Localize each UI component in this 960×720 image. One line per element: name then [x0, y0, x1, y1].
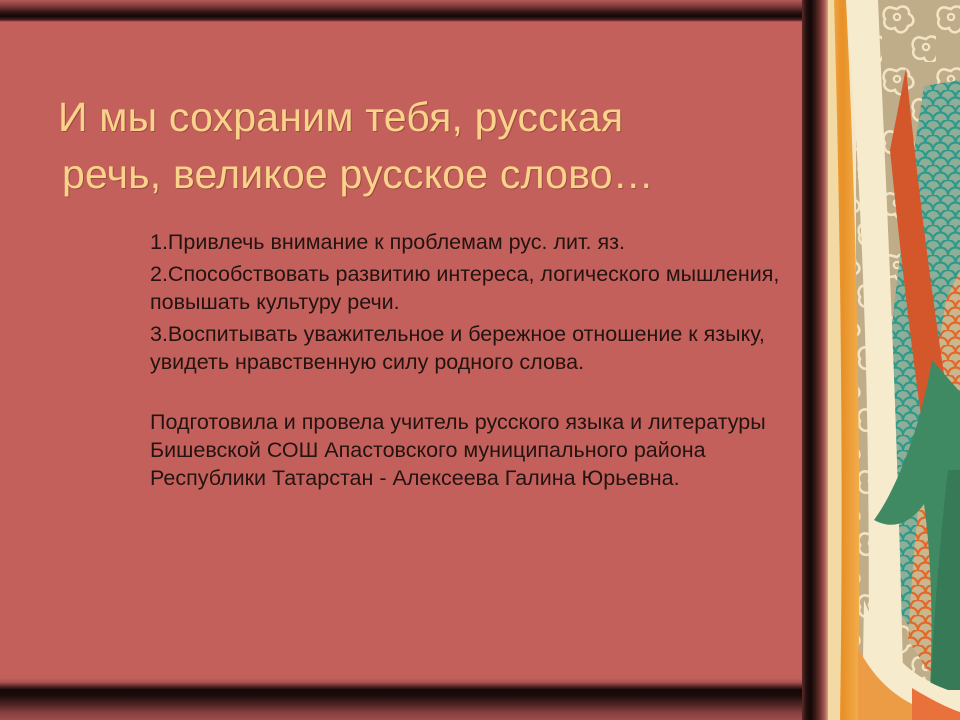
objective-item-2: 2.Способствовать развитию интереса, логи…	[150, 260, 798, 316]
author-credit: Подготовила и провела учитель русского я…	[150, 408, 798, 492]
panel-right-seam	[802, 0, 828, 720]
content-panel: И мы сохраним тебя, русская речь, велико…	[0, 0, 802, 720]
decorative-ribbon-artwork	[828, 0, 960, 720]
slide-title-line-1: И мы сохраним тебя, русская	[58, 89, 802, 146]
bottom-shadow-band	[0, 678, 802, 720]
objective-item-3: 3.Воспитывать уважительное и бережное от…	[150, 320, 798, 376]
slide-title-line-2: речь, великое русское слово…	[62, 146, 802, 203]
slide: И мы сохраним тебя, русская речь, велико…	[0, 0, 960, 720]
slide-body: 1.Привлечь внимание к проблемам рус. лит…	[150, 228, 798, 496]
decorative-border	[828, 0, 960, 720]
slide-title: И мы сохраним тебя, русская речь, велико…	[58, 89, 802, 203]
objective-item-1: 1.Привлечь внимание к проблемам рус. лит…	[150, 228, 798, 256]
top-shadow-band	[0, 0, 802, 22]
